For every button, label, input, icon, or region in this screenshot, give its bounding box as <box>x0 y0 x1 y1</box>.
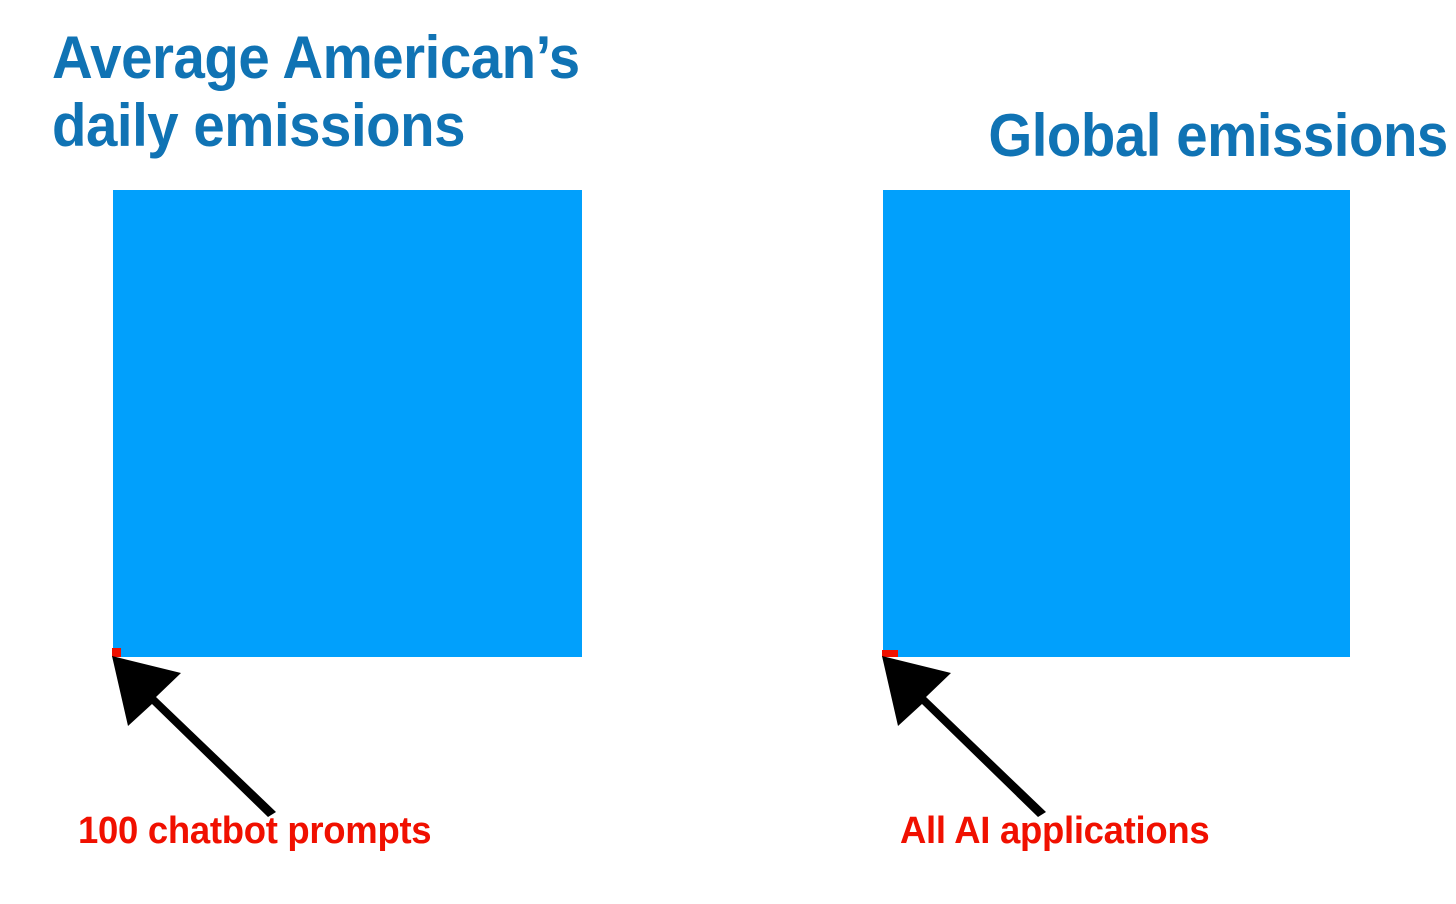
panel-title-american: Average American’s daily emissions <box>52 24 580 160</box>
callout-label-all-ai-applications: All AI applications <box>900 812 1209 850</box>
callout-label-chatbot-prompts: 100 chatbot prompts <box>78 812 431 850</box>
emissions-square-american <box>113 190 582 657</box>
arrow-up-left-icon-global <box>878 652 1063 817</box>
arrow-up-left-icon-american <box>108 652 293 817</box>
emissions-square-global <box>883 190 1350 657</box>
ai-share-marker-american <box>112 648 121 657</box>
ai-share-marker-global <box>882 650 898 657</box>
infographic-canvas: Average American’s daily emissions Globa… <box>0 0 1456 904</box>
panel-title-global: Global emissions <box>989 102 1448 170</box>
